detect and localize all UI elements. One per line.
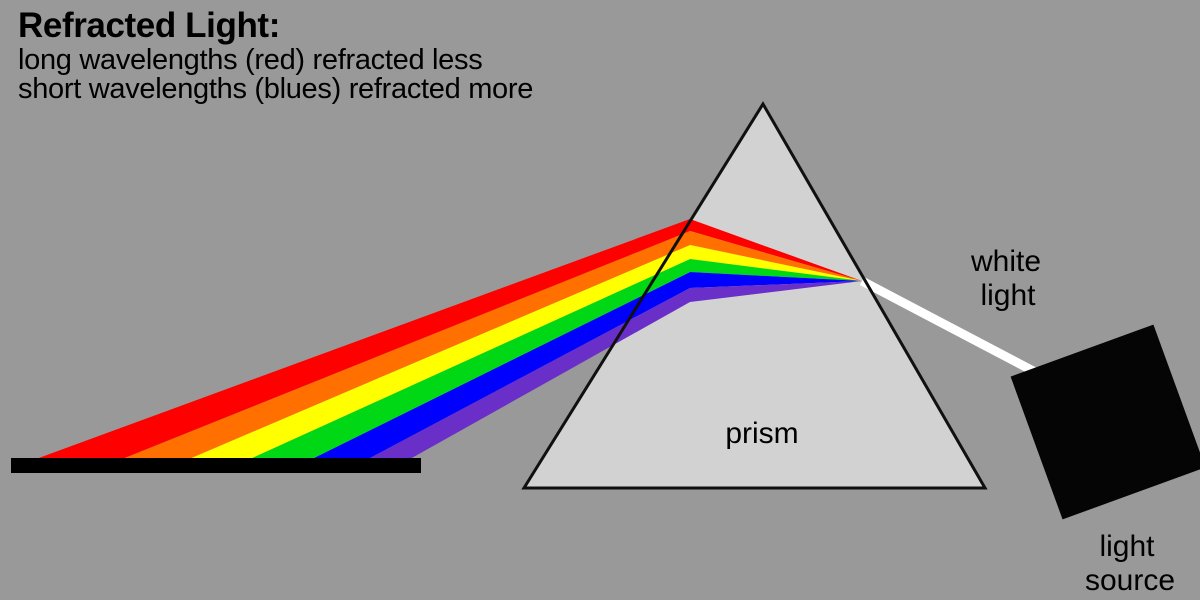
- white-light-label-line-2: light: [980, 279, 1036, 312]
- prism-label: prism: [725, 417, 798, 450]
- light-source[interactable]: [1011, 325, 1200, 520]
- white-light-label-line-1: white: [970, 245, 1041, 278]
- light-source-body: [1011, 325, 1200, 520]
- screen-bar: [11, 458, 421, 473]
- prism-dispersion-illustration: prism white light light source: [0, 0, 1200, 600]
- light-source-label-line-1: light: [1099, 530, 1155, 563]
- light-source-label-line-2: source: [1085, 564, 1175, 597]
- diagram-canvas: Refracted Light: long wavelengths (red) …: [0, 0, 1200, 600]
